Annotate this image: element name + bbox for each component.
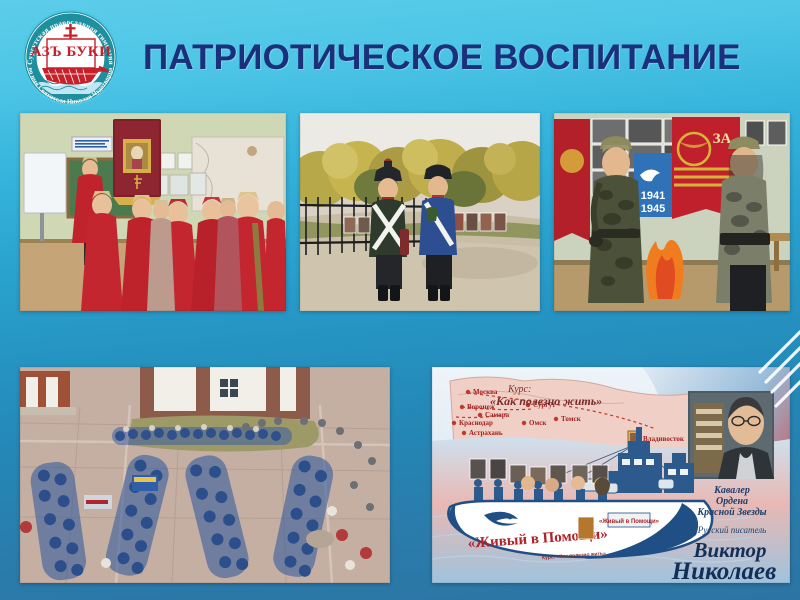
- svg-text:Кавалер: Кавалер: [713, 485, 750, 496]
- svg-text:1945: 1945: [641, 203, 665, 215]
- svg-text:1941: 1941: [641, 190, 665, 202]
- photo-ship-poster: Москва Воронеж Самара Краснодар Астрахан…: [432, 367, 790, 583]
- svg-text:АЗЪ БУКИ: АЗЪ БУКИ: [31, 44, 112, 60]
- svg-text:Омск: Омск: [529, 419, 547, 427]
- photo-cadets: 1941 1945 ЗА: [554, 113, 790, 311]
- svg-text:Краснодар: Краснодар: [459, 419, 493, 427]
- svg-text:Ордена: Ордена: [716, 496, 748, 507]
- presentation-slide: Сургутская православная гимназия во имя …: [0, 0, 800, 600]
- photo-classroom: [20, 113, 286, 311]
- svg-text:Томск: Томск: [561, 415, 582, 423]
- svg-text:«Как полезно жить»: «Как полезно жить»: [490, 394, 602, 408]
- svg-text:ЗА: ЗА: [713, 131, 732, 147]
- slide-header: Сургутская православная гимназия во имя …: [0, 0, 800, 108]
- svg-text:Самара: Самара: [485, 411, 510, 419]
- svg-text:Красной Звезды: Красной Звезды: [696, 507, 766, 518]
- photo-hussars: [300, 113, 540, 311]
- svg-text:Астрахань: Астрахань: [469, 429, 503, 437]
- svg-text:Русский писатель: Русский писатель: [697, 525, 767, 535]
- photo-courtyard: [20, 367, 390, 583]
- gymnasium-emblem-icon: Сургутская православная гимназия во имя …: [17, 6, 124, 109]
- svg-text:Николаев: Николаев: [671, 558, 777, 583]
- page-title: ПАТРИОТИЧЕСКОЕ ВОСПИТАНИЕ: [143, 38, 741, 78]
- svg-text:«Живый в Помощи»: «Живый в Помощи»: [599, 518, 660, 525]
